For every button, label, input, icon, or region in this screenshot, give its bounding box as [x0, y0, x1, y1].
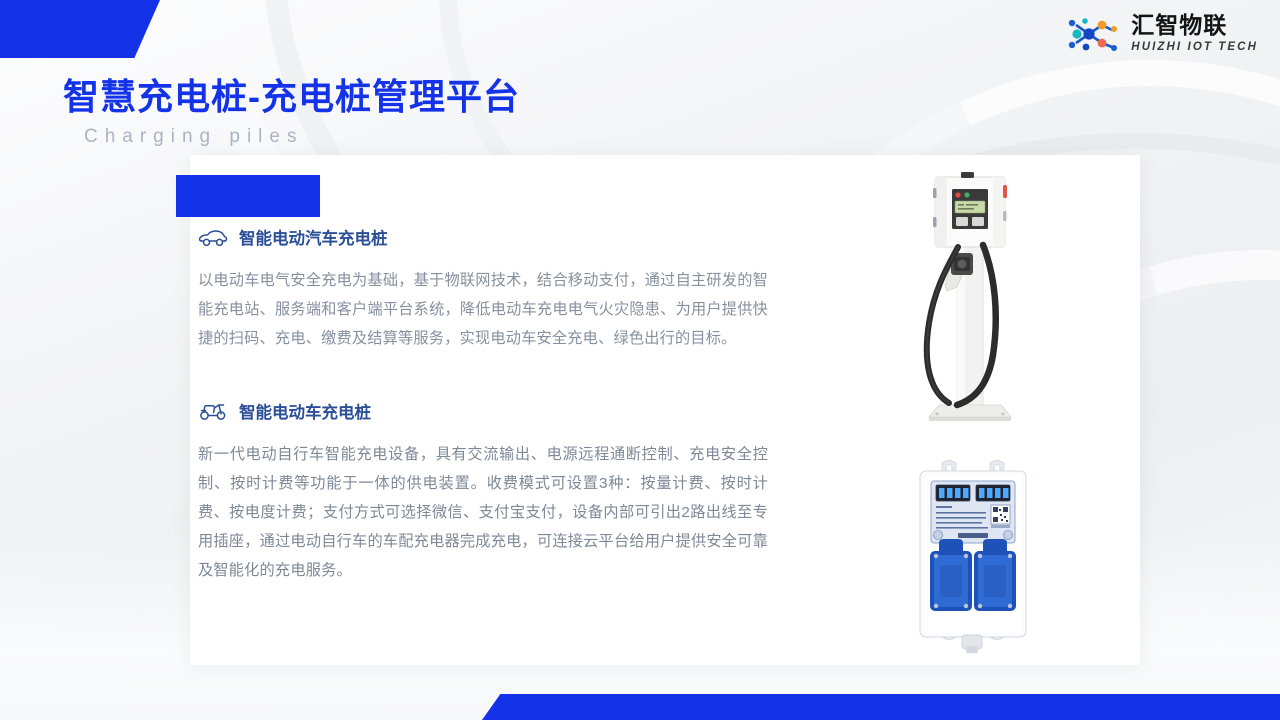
- card-blue-tab: [176, 175, 320, 217]
- logo-english-name: HUIZHI IOT TECH: [1131, 42, 1258, 54]
- slide-canvas: 智慧充电桩-充电桩管理平台 Charging piles 汇智物: [0, 0, 1280, 720]
- section-body-text: 新一代电动自行车智能充电设备，具有交流输出、电源远程通断控制、充电安全控制、按时…: [198, 440, 768, 585]
- brand-logo: 汇智物联 HUIZHI IOT TECH: [1065, 14, 1258, 54]
- logo-chinese-name: 汇智物联: [1131, 14, 1258, 37]
- ev-charging-pile-photo: [895, 165, 1045, 433]
- two-socket-charging-box-photo: [898, 455, 1048, 655]
- top-left-blue-accent: [0, 0, 160, 58]
- section-heading-label: 智能电动车充电桩: [239, 399, 371, 423]
- page-subtitle: Charging piles: [84, 126, 303, 148]
- car-icon: [198, 228, 228, 247]
- section-ev-car-pile: 智能电动汽车充电桩 以电动车电气安全充电为基础，基于物联网技术，结合移动支付，通…: [198, 225, 768, 353]
- section-heading-label: 智能电动汽车充电桩: [239, 225, 388, 249]
- card-content: 智能电动汽车充电桩 以电动车电气安全充电为基础，基于物联网技术，结合移动支付，通…: [198, 225, 768, 585]
- page-title: 智慧充电桩-充电桩管理平台: [63, 68, 520, 120]
- section-body-text: 以电动车电气安全充电为基础，基于物联网技术，结合移动支付，通过自主研发的智能充电…: [198, 266, 768, 353]
- section-heading: 智能电动车充电桩: [198, 399, 768, 423]
- scooter-icon: [198, 401, 228, 421]
- section-ebike-pile: 智能电动车充电桩 新一代电动自行车智能充电设备，具有交流输出、电源远程通断控制、…: [198, 399, 768, 585]
- section-heading: 智能电动汽车充电桩: [198, 225, 768, 249]
- bottom-blue-accent-bar: [482, 694, 1280, 720]
- molecule-network-icon: [1065, 14, 1123, 54]
